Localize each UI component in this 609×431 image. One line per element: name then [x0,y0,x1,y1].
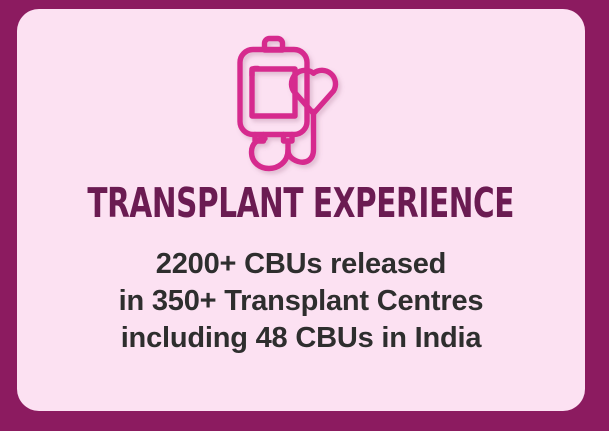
heart-shape [291,70,335,113]
statistics-text-block: 2200+ CBUs released in 350+ Transplant C… [119,246,484,357]
stat-line-2: in 350+ Transplant Centres [119,283,484,320]
stat-line-3: including 48 CBUs in India [119,320,484,357]
bag-inner-window [252,69,295,116]
infographic-card-frame: TRANSPLANT EXPERIENCE 2200+ CBUs release… [0,0,609,431]
bag-inner-highlight [252,69,258,76]
card-surface: TRANSPLANT EXPERIENCE 2200+ CBUs release… [17,9,585,411]
blood-bag-heart-icon-svg [231,31,371,173]
stat-line-1: 2200+ CBUs released [119,246,484,283]
blood-bag-heart-icon [231,31,371,173]
page-title: TRANSPLANT EXPERIENCE [88,183,515,224]
